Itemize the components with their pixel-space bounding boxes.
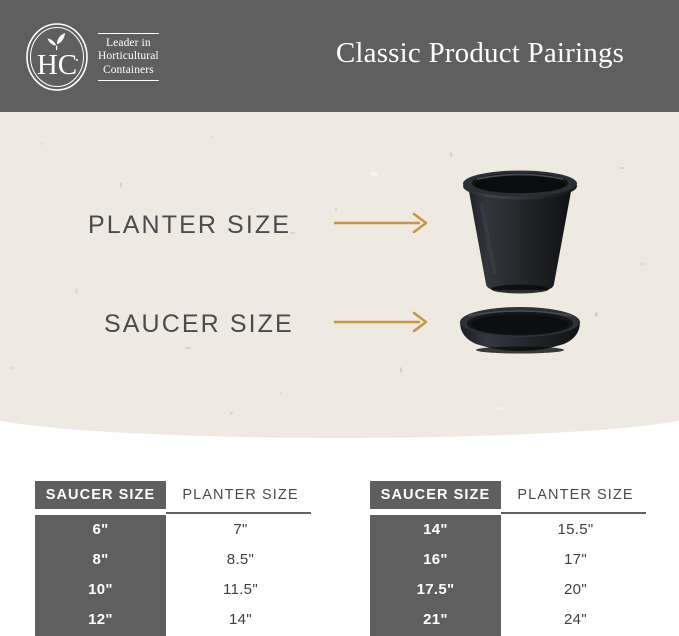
column-header-saucer-size: SAUCER SIZE <box>35 481 166 509</box>
cell-saucer-size: 12" <box>35 605 166 635</box>
cell-saucer-size: 6" <box>35 515 166 545</box>
cell-planter-size: 20" <box>501 575 650 605</box>
cell-saucer-size: 14" <box>370 515 501 545</box>
table-row: 12" 14" <box>35 605 315 635</box>
table-row: 17.5" 20" <box>370 575 650 605</box>
size-table-left: SAUCER SIZE PLANTER SIZE 6" 7" 8" 8.5" 1… <box>35 481 315 636</box>
tagline-line-2: Horticultural <box>98 50 159 64</box>
table-row: 8" 8.5" <box>35 545 315 575</box>
planter-arrow-icon <box>334 212 434 234</box>
cell-saucer-size: 8" <box>35 545 166 575</box>
cell-saucer-size: 16" <box>370 545 501 575</box>
column-header-planter-size: PLANTER SIZE <box>501 481 650 509</box>
diagram-panel: PLANTER SIZE <box>0 112 679 438</box>
cell-planter-size: 11.5" <box>166 575 315 605</box>
tagline-rule-bottom <box>98 80 159 81</box>
table-row: 21" 24" <box>370 605 650 635</box>
table-body: 14" 15.5" 16" 17" 17.5" 20" 21" 24" <box>370 515 650 636</box>
brand-tagline: Leader in Horticultural Containers <box>98 33 159 82</box>
saucer-arrow-icon <box>334 311 434 333</box>
cell-planter-size: 14" <box>166 605 315 635</box>
column-header-planter-size: PLANTER SIZE <box>166 481 315 509</box>
planter-size-label: PLANTER SIZE <box>88 211 291 240</box>
size-table-right: SAUCER SIZE PLANTER SIZE 14" 15.5" 16" 1… <box>370 481 650 636</box>
tagline-line-3: Containers <box>98 64 159 78</box>
hc-monogram-icon: HC <box>24 22 90 92</box>
cell-planter-size: 8.5" <box>166 545 315 575</box>
table-body: 6" 7" 8" 8.5" 10" 11.5" 12" 14" <box>35 515 315 636</box>
header-divider <box>166 512 311 514</box>
table-row: 10" 11.5" <box>35 575 315 605</box>
table-row: 16" 17" <box>370 545 650 575</box>
page-title: Classic Product Pairings <box>300 36 660 70</box>
planter-pot-image <box>455 168 585 299</box>
cell-saucer-size: 21" <box>370 605 501 635</box>
column-header-saucer-size: SAUCER SIZE <box>370 481 501 509</box>
header-bar: HC Leader in Horticultural Containers Cl… <box>0 0 679 112</box>
cell-saucer-size: 10" <box>35 575 166 605</box>
cell-planter-size: 15.5" <box>501 515 650 545</box>
cell-planter-size: 24" <box>501 605 650 635</box>
table-header-row: SAUCER SIZE PLANTER SIZE <box>35 481 315 509</box>
saucer-size-label: SAUCER SIZE <box>104 310 294 339</box>
saucer-dish-image <box>452 303 588 360</box>
header-divider <box>501 512 646 514</box>
brand-logo: HC Leader in Horticultural Containers <box>24 21 194 93</box>
table-header-row: SAUCER SIZE PLANTER SIZE <box>370 481 650 509</box>
table-row: 14" 15.5" <box>370 515 650 545</box>
cell-planter-size: 7" <box>166 515 315 545</box>
cell-saucer-size: 17.5" <box>370 575 501 605</box>
svg-text:HC: HC <box>37 49 77 81</box>
table-row: 6" 7" <box>35 515 315 545</box>
tagline-line-1: Leader in <box>98 37 159 51</box>
cell-planter-size: 17" <box>501 545 650 575</box>
